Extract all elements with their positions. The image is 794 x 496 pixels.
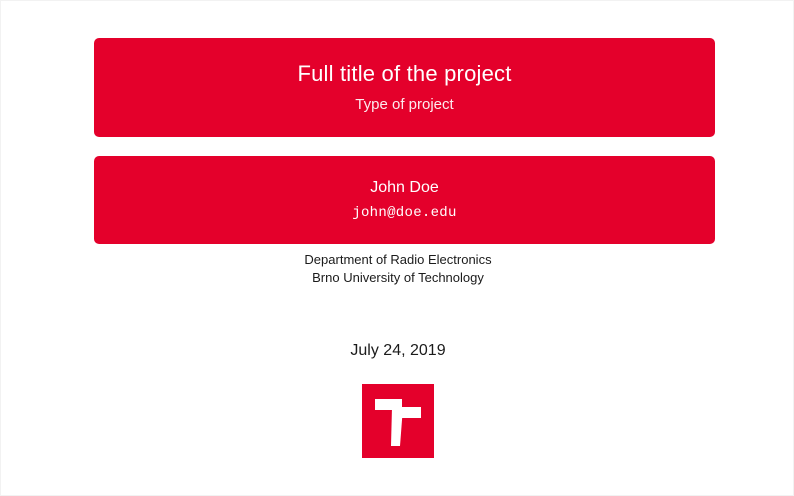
slide-subtitle: Type of project (355, 96, 453, 114)
presentation-title-slide: Full title of the project Type of projec… (0, 0, 794, 496)
institute-department: Department of Radio Electronics (1, 251, 794, 269)
logo-container (1, 384, 794, 458)
page-title: Full title of the project (297, 61, 511, 87)
slide-date: July 24, 2019 (1, 341, 794, 360)
but-logo-t-glyph (362, 384, 434, 458)
institute: Department of Radio Electronics Brno Uni… (1, 251, 794, 286)
institute-university: Brno University of Technology (1, 269, 794, 287)
author-block: John Doe john@doe.edu (94, 156, 715, 244)
but-logo-icon (362, 384, 434, 458)
author-email: john@doe.edu (352, 205, 456, 222)
title-block: Full title of the project Type of projec… (94, 38, 715, 137)
author-name: John Doe (370, 178, 439, 197)
